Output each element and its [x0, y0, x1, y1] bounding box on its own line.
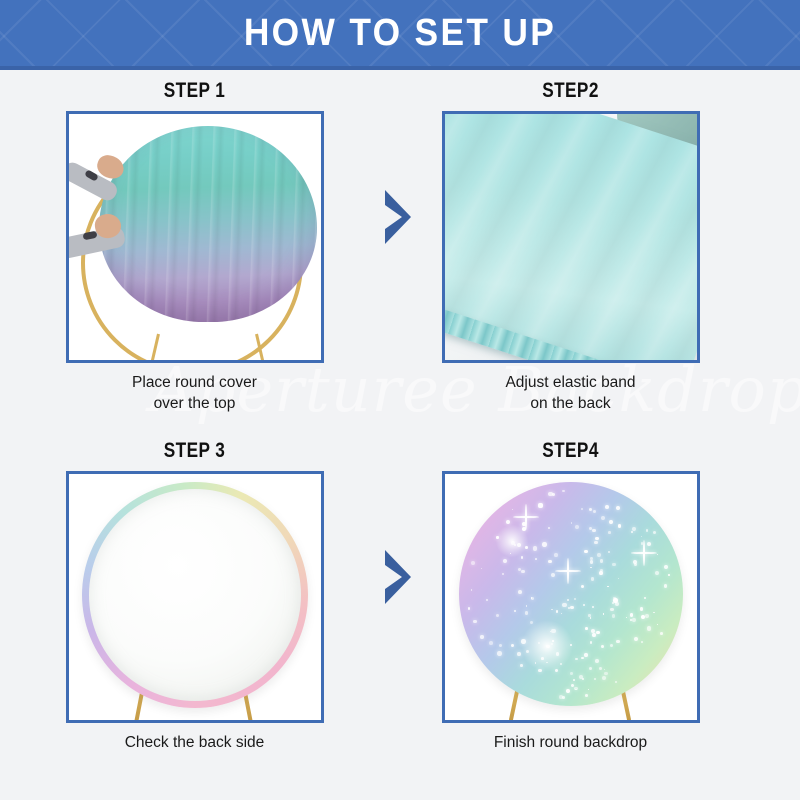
glow-spot-upper: [495, 524, 529, 558]
step-3-label: STEP 3: [53, 438, 336, 466]
step-4-photo: [442, 471, 700, 723]
step-3-photo: [66, 471, 324, 723]
step-2-caption-line1: Adjust elastic band: [398, 372, 743, 393]
step-cell-3: STEP 3 Check the back side: [22, 438, 367, 753]
step-1-illustration: [69, 114, 321, 360]
chevron-right-icon-row1: [381, 188, 415, 246]
step-2-photo: [442, 111, 700, 363]
star-field: [459, 482, 683, 706]
sparkle-icon-1: [555, 558, 581, 584]
step-cell-4: STEP4 Finish round backdrop: [398, 438, 743, 753]
step-4-caption: Finish round backdrop: [398, 732, 743, 753]
page-title: HOW TO SET UP: [28, 0, 772, 66]
page-header-banner: HOW TO SET UP: [0, 0, 800, 70]
step-2-label: STEP2: [429, 78, 712, 106]
sparkle-icon-2: [631, 540, 657, 566]
step-1-caption-line2: over the top: [22, 393, 367, 414]
step-2-illustration: [445, 114, 697, 360]
step-2-caption: Adjust elastic band on the back: [398, 372, 743, 414]
step-1-photo: [66, 111, 324, 363]
finished-backdrop-disc-shape: [459, 482, 683, 706]
step-3-caption: Check the back side: [22, 732, 367, 753]
backdrop-back-disc-shape: [82, 482, 308, 708]
sparkle-icon-3: [517, 508, 535, 526]
chevron-right-icon-row2: [381, 548, 415, 606]
step-3-caption-line1: Check the back side: [22, 732, 367, 753]
step-1-label: STEP 1: [53, 78, 336, 106]
step-cell-2: STEP2 Adjust elastic band on the back: [398, 78, 743, 414]
glow-spot-lower: [521, 620, 573, 672]
step-1-caption-line1: Place round cover: [22, 372, 367, 393]
step-2-caption-line2: on the back: [398, 393, 743, 414]
step-4-label: STEP4: [429, 438, 712, 466]
step-1-caption: Place round cover over the top: [22, 372, 367, 414]
step-4-illustration: [445, 474, 697, 720]
steps-grid: STEP 1 Place round cover ov: [0, 70, 800, 800]
gradient-cover-shape: [99, 126, 317, 322]
step-4-caption-line1: Finish round backdrop: [398, 732, 743, 753]
step-cell-1: STEP 1 Place round cover ov: [22, 78, 367, 414]
step-3-illustration: [69, 474, 321, 720]
